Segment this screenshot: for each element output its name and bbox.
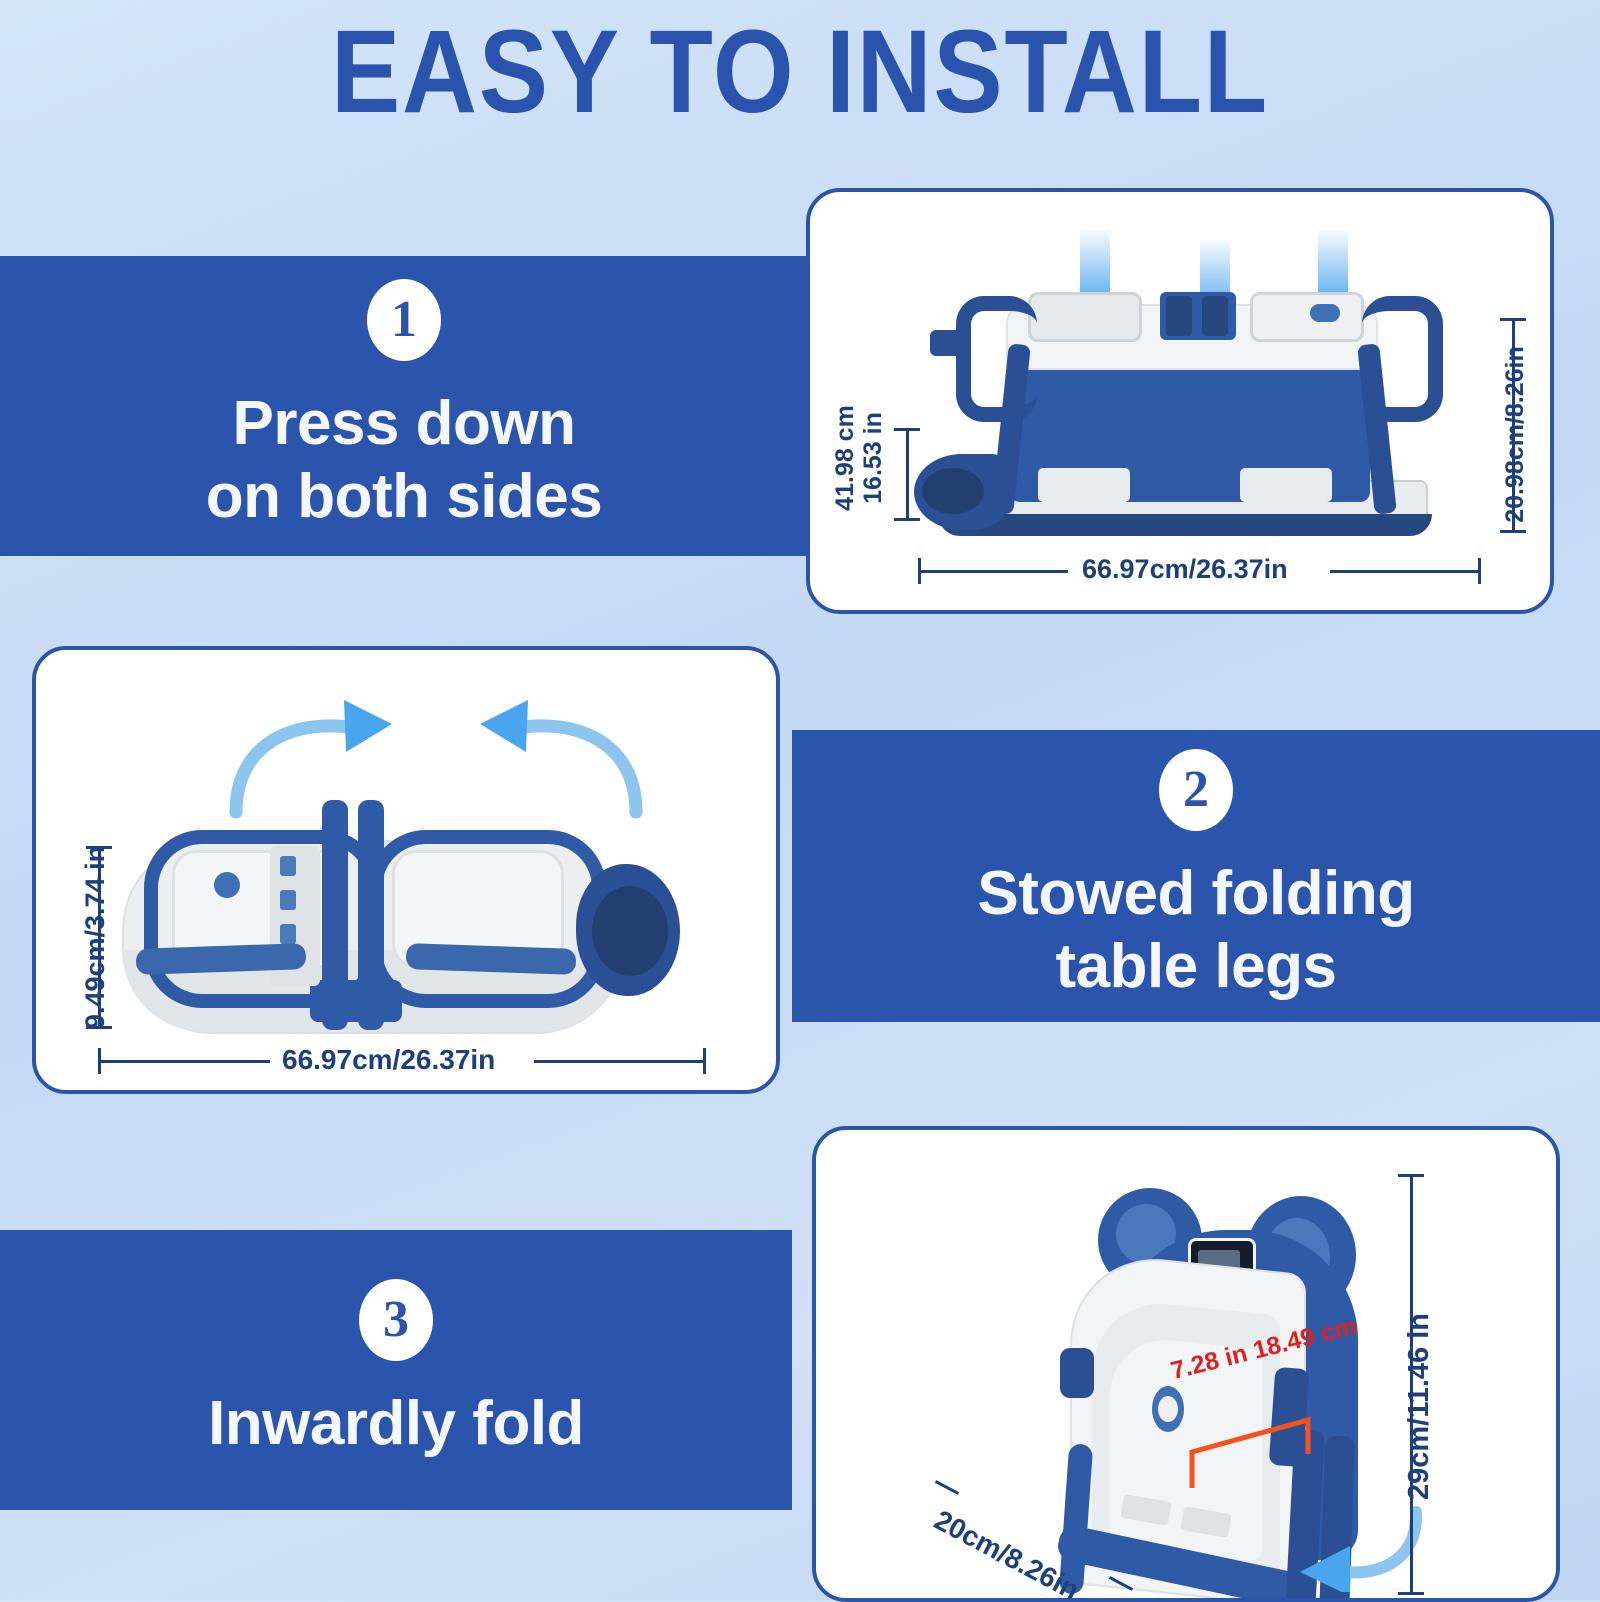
step-text-3: Inwardly fold: [178, 1387, 614, 1460]
step-band-3: 3 Inwardly fold: [0, 1230, 792, 1510]
dimension-cap: [1500, 530, 1526, 533]
red-dimension-bracket: [1182, 1392, 1332, 1502]
curved-arrow-icon: [1286, 1502, 1436, 1592]
step-number-badge-3: 3: [359, 1279, 433, 1361]
product-illustration-1: 41.98 cm 16.53 in 20.98cm/8.26in 66.97cm…: [810, 192, 1550, 610]
panel-flattened-top-view: 9.49cm/3.74 in 66.97cm/26.37in: [32, 646, 780, 1094]
dimension-left-line2: 16.53 in: [859, 412, 887, 504]
dimension-bottom-width: 66.97cm/26.37in: [1082, 554, 1288, 585]
step-2-line-1: Stowed folding: [977, 859, 1414, 928]
dimension-line-vertical: [906, 428, 909, 520]
dimension-left-height: 9.49cm/3.74 in: [80, 846, 111, 1029]
step-text-2: Stowed folding table legs: [947, 857, 1444, 1003]
inward-arrows-icon: [206, 692, 666, 832]
step-text-1: Press down on both sides: [176, 387, 633, 533]
step-band-1: 1 Press down on both sides: [0, 256, 808, 556]
step-number-badge-2: 2: [1159, 749, 1233, 831]
dimension-line-horizontal: [534, 1060, 706, 1063]
dimension-line-horizontal: [918, 570, 1068, 573]
dimension-left-line1: 41.98 cm: [831, 405, 859, 511]
dimension-bottom-width: 66.97cm/26.37in: [282, 1044, 495, 1076]
dimension-line-horizontal: [1330, 570, 1480, 573]
dimension-cap: [98, 1048, 101, 1074]
dimension-line-horizontal: [98, 1060, 270, 1063]
dimension-right-height: 20.98cm/8.26in: [1501, 346, 1530, 523]
page-title: EASY TO INSTALL: [96, 8, 1504, 138]
dimension-cap: [894, 518, 920, 521]
panel-folded-front-view: 41.98 cm 16.53 in 20.98cm/8.26in 66.97cm…: [806, 188, 1554, 614]
step-1-line-2: on both sides: [206, 462, 603, 531]
step-1-line-1: Press down: [233, 389, 576, 458]
dimension-left-height: 41.98 cm 16.53 in: [831, 405, 887, 511]
product-illustration-2: 9.49cm/3.74 in 66.97cm/26.37in: [36, 650, 776, 1090]
dimension-cap: [1398, 1174, 1424, 1177]
panel-folded-upright-view: 7.28 in 18.49 cm 29cm/11.46 in 20cm/8.26…: [812, 1126, 1560, 1602]
dimension-cap: [935, 1480, 959, 1495]
step-number-badge-1: 1: [367, 279, 441, 361]
dimension-cap: [703, 1048, 706, 1074]
step-band-2: 2 Stowed folding table legs: [792, 730, 1600, 1022]
dimension-cap: [894, 428, 920, 431]
dimension-cap: [918, 558, 921, 584]
step-3-line-1: Inwardly fold: [208, 1389, 584, 1458]
product-illustration-3: 7.28 in 18.49 cm 29cm/11.46 in 20cm/8.26…: [816, 1130, 1556, 1598]
dimension-cap: [1478, 558, 1481, 584]
infographic-stage: EASY TO INSTALL: [0, 0, 1600, 1600]
dimension-right-height: 29cm/11.46 in: [1403, 1313, 1436, 1500]
dimension-cap: [1398, 1592, 1424, 1595]
step-2-line-2: table legs: [1055, 932, 1336, 1001]
dimension-cap: [1500, 318, 1526, 321]
